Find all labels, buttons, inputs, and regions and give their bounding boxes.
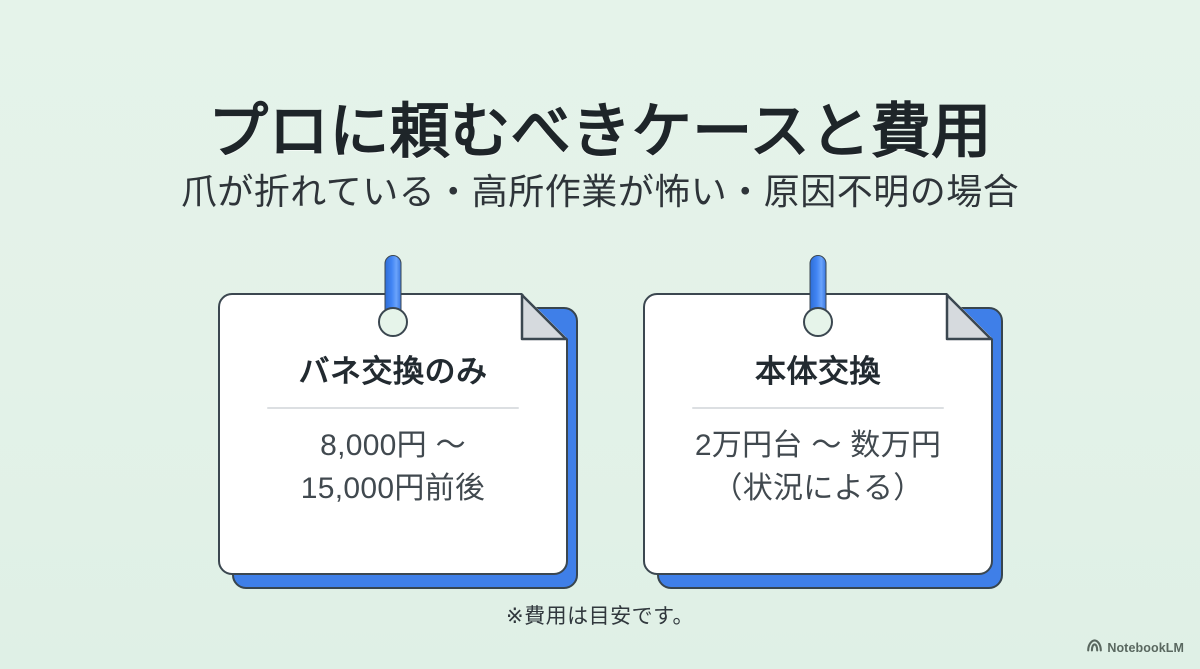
notebooklm-watermark: NotebookLM <box>1087 639 1184 657</box>
card-content: バネ交換のみ 8,000円 〜 15,000円前後 <box>218 293 568 575</box>
footnote-disclaimer: ※費用は目安です。 <box>0 600 1200 630</box>
notebooklm-label: NotebookLM <box>1107 641 1184 655</box>
card-divider <box>267 407 519 409</box>
notebooklm-logo-icon <box>1087 639 1102 657</box>
card-price: 2万円台 〜 数万円 （状況による） <box>665 425 971 510</box>
cost-card-spring-replacement[interactable]: バネ交換のみ 8,000円 〜 15,000円前後 <box>218 255 568 575</box>
cost-card-unit-replacement[interactable]: 本体交換 2万円台 〜 数万円 （状況による） <box>643 255 993 575</box>
card-price: 8,000円 〜 15,000円前後 <box>240 425 546 510</box>
card-heading: バネ交換のみ <box>240 355 546 389</box>
card-heading: 本体交換 <box>665 355 971 389</box>
page-title: プロに頼むべきケースと費用 <box>0 97 1200 166</box>
card-price-line: 2万円台 〜 数万円 <box>665 425 971 468</box>
slide-canvas: プロに頼むべきケースと費用 爪が折れている・高所作業が怖い・原因不明の場合 バネ… <box>0 0 1200 669</box>
page-subtitle: 爪が折れている・高所作業が怖い・原因不明の場合 <box>0 170 1200 213</box>
card-price-line: 15,000円前後 <box>240 468 546 511</box>
cards-row: バネ交換のみ 8,000円 〜 15,000円前後 <box>0 255 1200 585</box>
card-price-line: （状況による） <box>665 468 971 511</box>
card-content: 本体交換 2万円台 〜 数万円 （状況による） <box>643 293 993 575</box>
card-divider <box>692 407 944 409</box>
card-price-line: 8,000円 〜 <box>240 425 546 468</box>
